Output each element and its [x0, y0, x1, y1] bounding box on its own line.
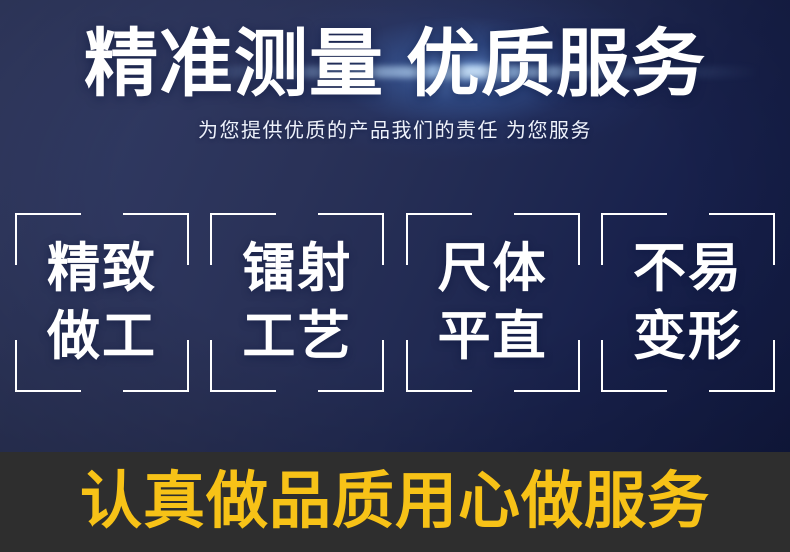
- feature-line-2: 平直: [438, 307, 548, 367]
- feature-line-1: 镭射: [242, 239, 352, 299]
- feature-box-text: 不易 变形: [601, 213, 775, 392]
- feature-line-2: 工艺: [242, 307, 352, 367]
- feature-box-group: 精致 做工 镭射 工艺 尺体: [15, 213, 775, 392]
- headline-part-2: 优质服务: [406, 22, 706, 105]
- headline-part-1: 精准测量: [84, 22, 384, 105]
- hero-background: 精准测量优质服务 为您提供优质的产品我们的责任 为您服务 精致 做工: [0, 0, 790, 452]
- feature-box-leishe-gongyi: 镭射 工艺: [210, 213, 384, 392]
- feature-box-jingzhi-zuogong: 精致 做工: [15, 213, 189, 392]
- feature-box-text: 尺体 平直: [406, 213, 580, 392]
- feature-box-text: 镭射 工艺: [210, 213, 384, 392]
- subheadline: 为您提供优质的产品我们的责任 为您服务: [0, 118, 790, 144]
- feature-line-1: 不易: [633, 239, 743, 299]
- feature-box-buyi-bianxing: 不易 变形: [601, 213, 775, 392]
- feature-line-2: 做工: [47, 307, 157, 367]
- feature-line-1: 尺体: [438, 239, 548, 299]
- headline: 精准测量优质服务: [0, 22, 790, 106]
- feature-line-2: 变形: [633, 307, 743, 367]
- feature-box-chiti-pingzhi: 尺体 平直: [406, 213, 580, 392]
- footer-bar: 认真做品质用心做服务: [0, 452, 790, 552]
- feature-line-1: 精致: [47, 239, 157, 299]
- footer-slogan: 认真做品质用心做服务: [80, 466, 710, 538]
- feature-box-text: 精致 做工: [15, 213, 189, 392]
- promo-banner: 精准测量优质服务 为您提供优质的产品我们的责任 为您服务 精致 做工: [0, 0, 790, 552]
